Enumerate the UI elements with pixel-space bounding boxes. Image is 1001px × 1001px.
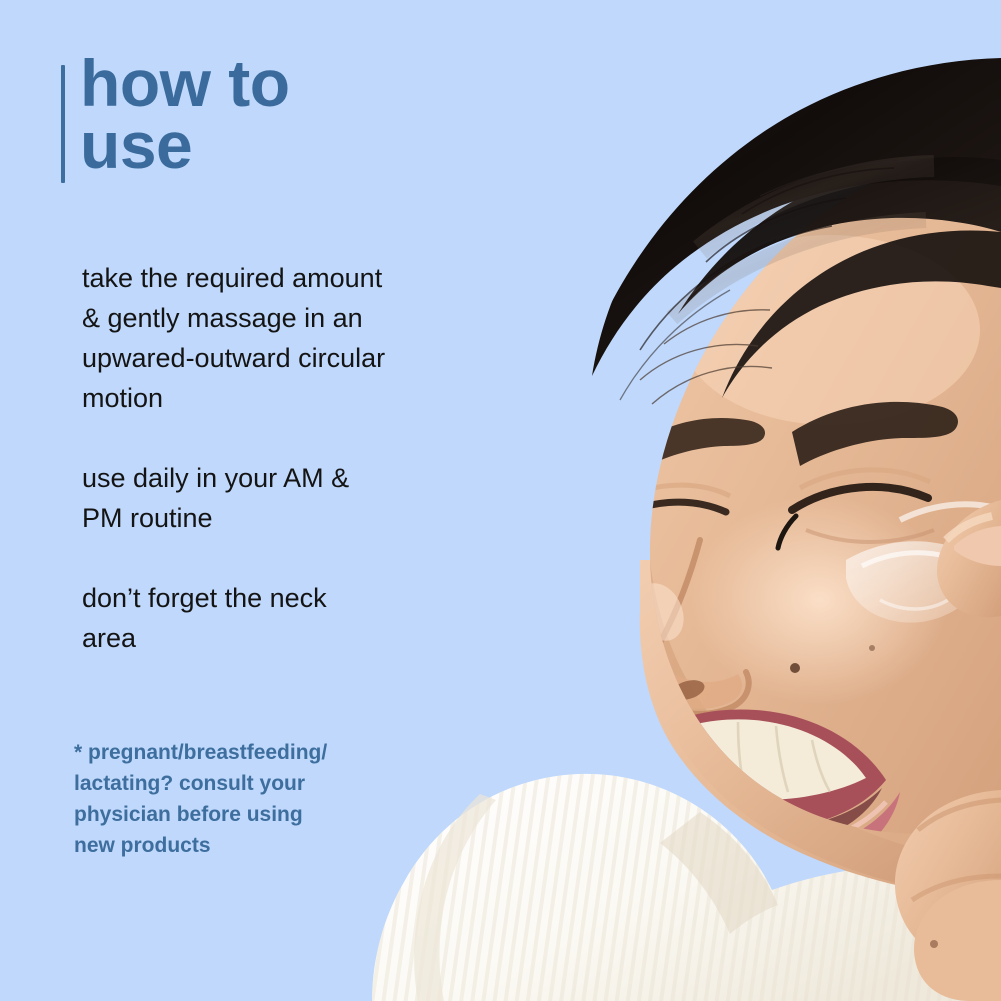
- instruction-list: take the required amount & gently massag…: [82, 258, 482, 658]
- instruction-step-neck: don’t forget the neck area: [82, 578, 482, 658]
- safety-footnote: * pregnant/breastfeeding/ lactating? con…: [74, 737, 394, 861]
- instruction-step-routine: use daily in your AM & PM routine: [82, 458, 482, 538]
- how-to-use-card: how to use take the required amount & ge…: [0, 0, 1001, 1001]
- page-title: how to use: [80, 52, 500, 176]
- title-accent-bar: [61, 65, 65, 183]
- copy-block: how to use take the required amount & ge…: [0, 0, 1001, 1001]
- instruction-step-apply: take the required amount & gently massag…: [82, 258, 482, 418]
